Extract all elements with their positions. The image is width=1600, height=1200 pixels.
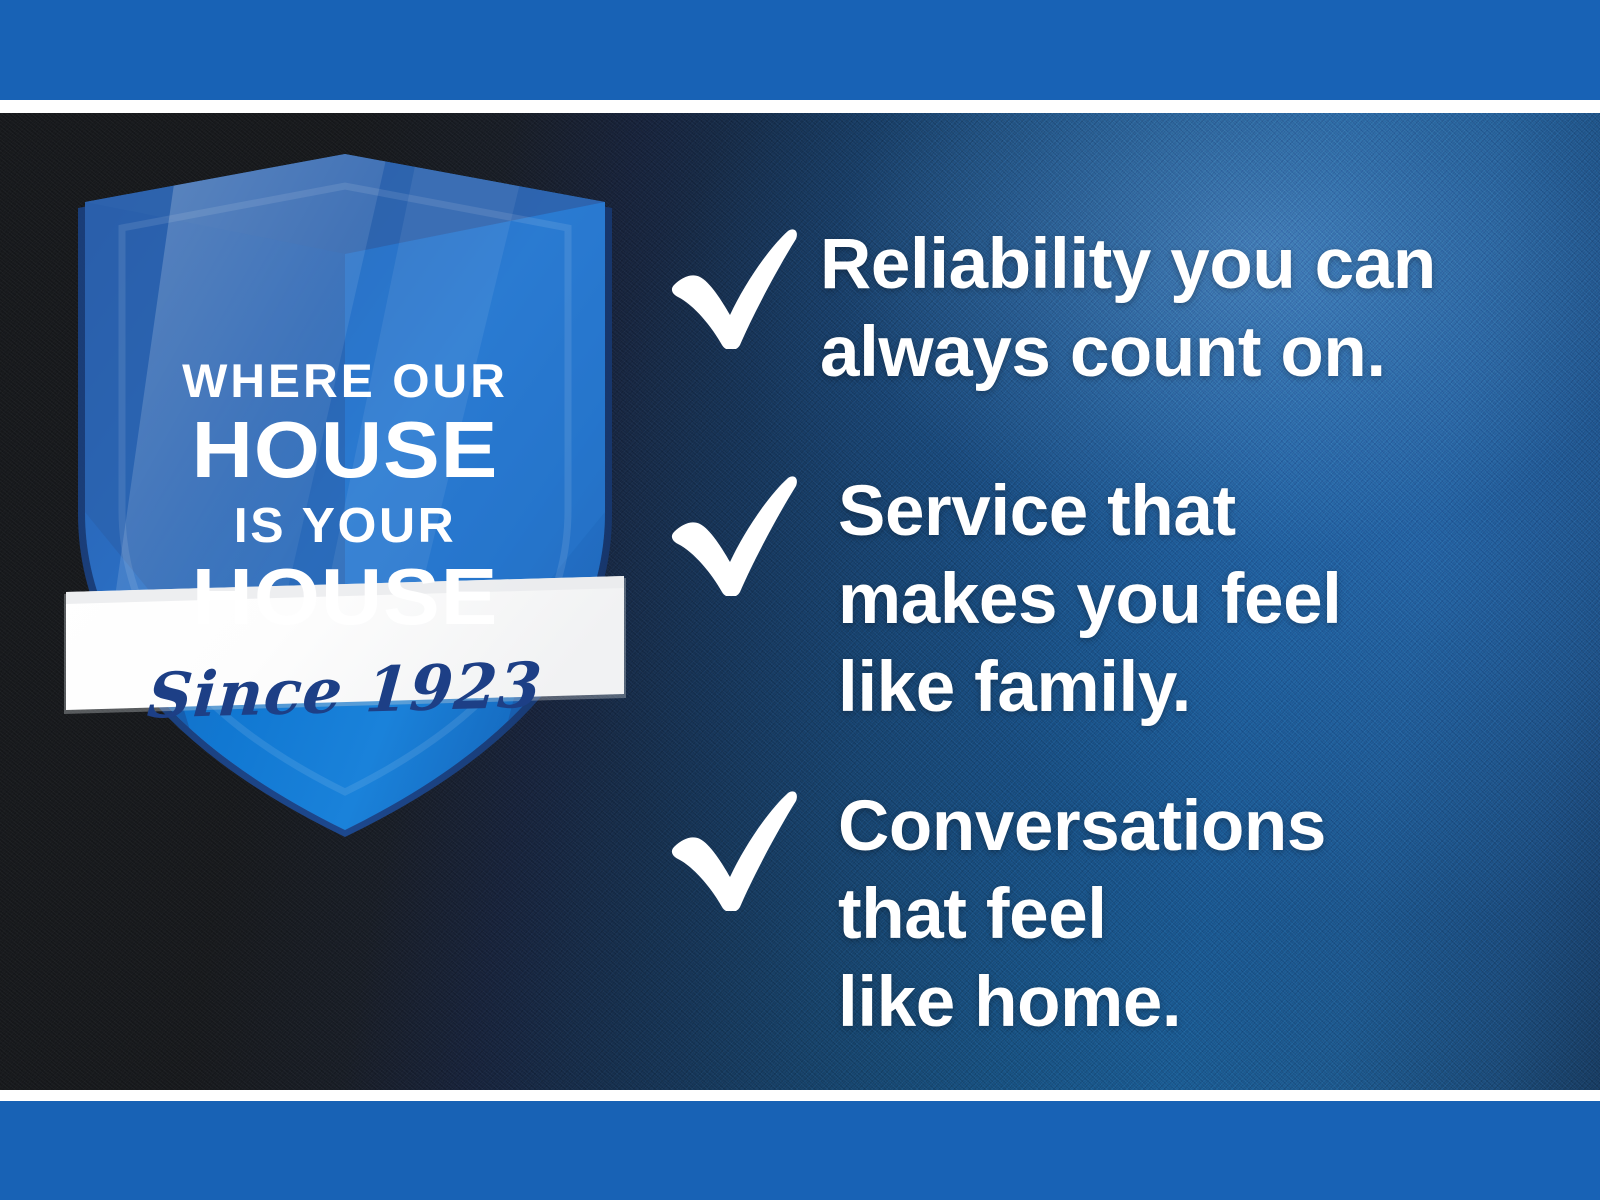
- benefit-item: Conversations that feel like home.: [668, 783, 1568, 1047]
- checkmark-icon: [668, 468, 820, 596]
- benefit-text: Conversations that feel like home.: [820, 783, 1568, 1047]
- checkmark-icon: [668, 221, 820, 349]
- promo-poster: Where Our House Is Your House Since 1923…: [0, 0, 1600, 1200]
- benefit-text: Service that makes you feel like family.: [820, 468, 1568, 732]
- bottom-brand-bar: [0, 1101, 1600, 1200]
- top-brand-bar: [0, 0, 1600, 100]
- shield-badge: Where Our House Is Your House Since 1923: [60, 142, 630, 842]
- benefit-text: Reliability you can always count on.: [820, 221, 1568, 397]
- checkmark-icon: [668, 783, 820, 911]
- since-banner: [64, 576, 626, 714]
- benefits-list: Reliability you can always count on. Ser…: [668, 113, 1568, 1090]
- shield-bevel-group: [80, 142, 605, 842]
- benefit-item: Reliability you can always count on.: [668, 221, 1568, 397]
- benefit-item: Service that makes you feel like family.: [668, 468, 1568, 732]
- shield-emblem: [60, 142, 630, 842]
